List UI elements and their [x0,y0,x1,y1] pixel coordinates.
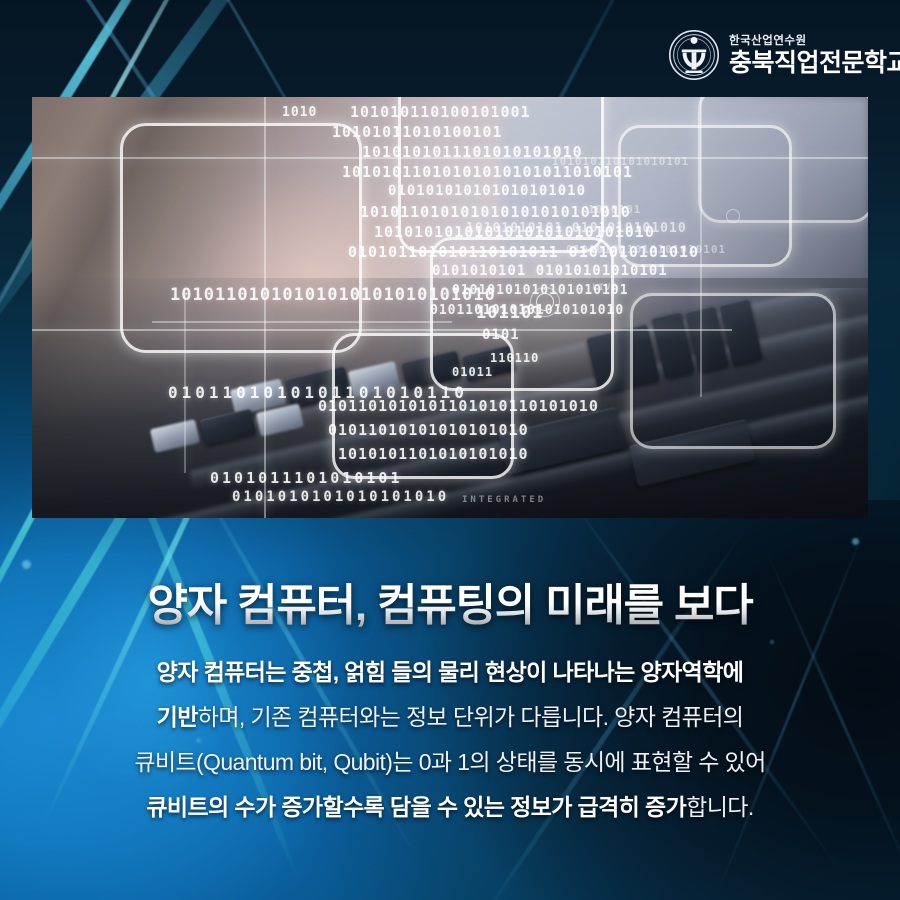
logo-wordmark: 한국산업연수원 충북직업전문학교 [729,34,900,77]
logo-title: 충북직업전문학교 [729,50,900,76]
hud-label: LIVE [592,283,618,293]
binary-overlay: 10101011010100101 [332,123,503,141]
hero-photo: 1010 101010110100101001 1010101101010010… [32,97,868,518]
binary-overlay: 01011 [452,365,493,379]
keyboard-key [150,419,200,453]
logo-subtitle: 한국산업연수원 [729,36,900,48]
binary-overlay: 010101011010101010101 [566,243,726,256]
hud-circle [726,209,740,223]
binary-overlay: 0101010101010101010 [232,489,449,505]
binary-overlay: 110110 [490,351,539,365]
body-copy: 양자 컴퓨터는 중첩, 얽힘 들의 물리 현상이 나타나는 양자역학에 기반하며… [0,650,900,830]
institution-logo: 한국산업연수원 충북직업전문학교 [668,24,882,86]
body-line: 큐비트의 수가 증가할수록 담을 수 있는 정보가 급격히 증가합니다. [0,785,900,830]
bokeh-dot [852,538,859,545]
binary-overlay: 101010110101010101 [552,155,689,168]
binary-overlay: 01011010101010101010 [328,421,529,439]
body-segment: 양자 컴퓨터는 중첩, 얽힘 들의 물리 현상이 나타나는 양자역학에 [157,659,744,685]
body-line: 기반하며, 기존 컴퓨터와는 정보 단위가 다릅니다. 양자 컴퓨터의 [0,695,900,740]
body-segment: 합니다. [686,794,753,820]
hud-label: INTEGRATED [462,495,546,505]
college-seal-icon [668,29,720,81]
binary-overlay: 101101 [476,303,543,323]
binary-overlay: 0101 [482,327,520,343]
body-line: 양자 컴퓨터는 중첩, 얽힘 들의 물리 현상이 나타나는 양자역학에 [0,650,900,695]
binary-overlay: 010101010101010101010 [388,183,586,199]
binary-overlay: 1010101011101010101010 [362,143,583,161]
body-line: 큐비트(Quantum bit, Qubit)는 0과 1의 상태를 동시에 표… [0,740,900,785]
promo-card: 한국산업연수원 충북직업전문학교 [0,0,900,900]
binary-overlay: 0101010101 01010101010101 [432,263,668,279]
hud-line [152,321,452,323]
hud-line [264,97,266,518]
body-segment: 큐비트(Quantum bit, Qubit)는 0과 1의 상태를 동시에 표… [134,749,765,775]
binary-overlay: 1010101 [588,203,641,216]
binary-overlay: 1010101101010101010 [338,445,529,463]
body-segment-emphasis: 큐비트의 수가 증가할수록 담을 수 있는 정보가 급격히 증가 [146,794,686,820]
binary-overlay: 0101101010101101010110101010 [318,397,599,415]
binary-overlay: 0101011101010101 [210,469,403,487]
page-title: 양자 컴퓨터, 컴퓨팅의 미래를 보다 [0,582,900,630]
body-segment: 하며, 기존 컴퓨터와는 정보 단위가 다릅니다. 양자 컴퓨터의 [198,704,744,730]
binary-overlay: 101010110100101001 [350,103,531,121]
binary-overlay: 10101010101 0101010101010 [466,221,687,236]
binary-overlay: 10101101010101010101010101010 [170,285,496,305]
body-segment-emphasis: 기반 [157,704,198,730]
hud-line [32,329,732,331]
hud-rounded-rect [698,97,868,223]
bokeh-dot [770,640,774,644]
binary-overlay: 1010 [282,105,317,120]
bokeh-dot [22,560,31,569]
hud-rounded-rect [630,293,836,449]
